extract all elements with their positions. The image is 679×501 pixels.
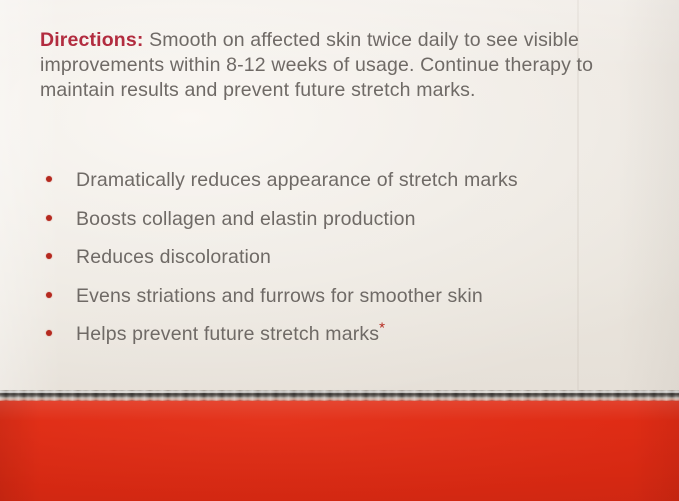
- product-package-panel: Directions: Smooth on affected skin twic…: [0, 0, 679, 501]
- directions-block: Directions: Smooth on affected skin twic…: [40, 28, 640, 103]
- bullet-dot-icon: [46, 176, 52, 182]
- benefit-item-label: Boosts collagen and elastin production: [76, 208, 416, 230]
- footnote-asterisk: *: [379, 320, 385, 337]
- benefit-item-label: Evens striations and furrows for smoothe…: [76, 285, 483, 307]
- directions-label: Directions:: [40, 29, 144, 51]
- red-color-band: [0, 401, 679, 501]
- bullet-dot-icon: [46, 292, 52, 298]
- benefit-item-label: Helps prevent future stretch marks: [76, 323, 379, 345]
- directions-paragraph: Directions: Smooth on affected skin twic…: [40, 28, 640, 103]
- benefits-list: Dramatically reduces appearance of stret…: [44, 167, 654, 360]
- benefit-item-label: Dramatically reduces appearance of stret…: [76, 169, 518, 191]
- benefit-list-item: Reduces discoloration: [44, 244, 654, 283]
- bullet-dot-icon: [46, 215, 52, 221]
- benefit-list-item: Evens striations and furrows for smoothe…: [44, 283, 654, 322]
- benefit-list-item: Dramatically reduces appearance of stret…: [44, 167, 654, 206]
- benefit-list-item: Helps prevent future stretch marks*: [44, 321, 654, 360]
- bullet-dot-icon: [46, 253, 52, 259]
- benefit-list-item: Boosts collagen and elastin production: [44, 206, 654, 245]
- benefit-item-label: Reduces discoloration: [76, 246, 271, 268]
- bullet-dot-icon: [46, 330, 52, 336]
